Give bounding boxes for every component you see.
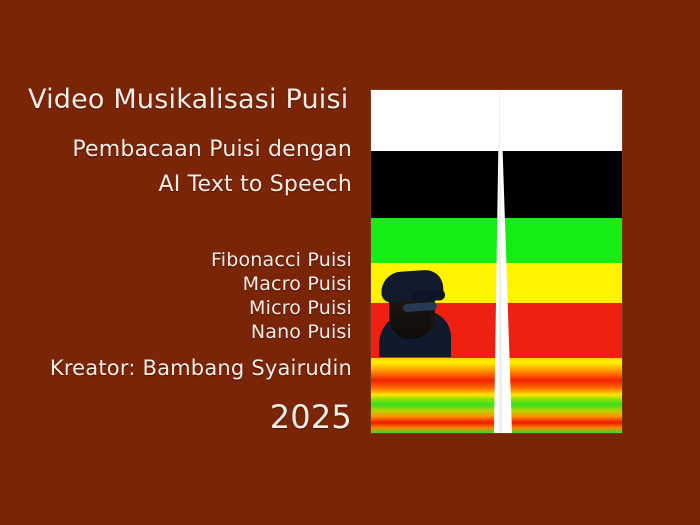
subtitle-line-1: Pembacaan Puisi dengan [72,137,352,162]
creator-credit: Kreator: Bambang Syairudin [50,356,352,380]
cap-brim [411,289,446,302]
title-slide: Video Musikalisasi Puisi Pembacaan Puisi… [0,0,700,525]
subtitle-line-2: AI Text to Speech [158,172,352,197]
white-spire [490,90,494,433]
artwork-panel [371,90,622,433]
page-title: Video Musikalisasi Puisi [28,84,348,115]
spire-svg [492,90,518,433]
list-item: Nano Puisi [251,321,352,343]
year-label: 2025 [270,398,352,436]
list-item: Macro Puisi [243,273,352,295]
list-item: Micro Puisi [249,297,352,319]
spire-polygon [494,90,512,433]
list-item: Fibonacci Puisi [211,249,352,271]
portrait-silhouette [373,265,453,357]
text-column: Video Musikalisasi Puisi Pembacaan Puisi… [0,0,366,525]
spire-shape [492,90,518,433]
